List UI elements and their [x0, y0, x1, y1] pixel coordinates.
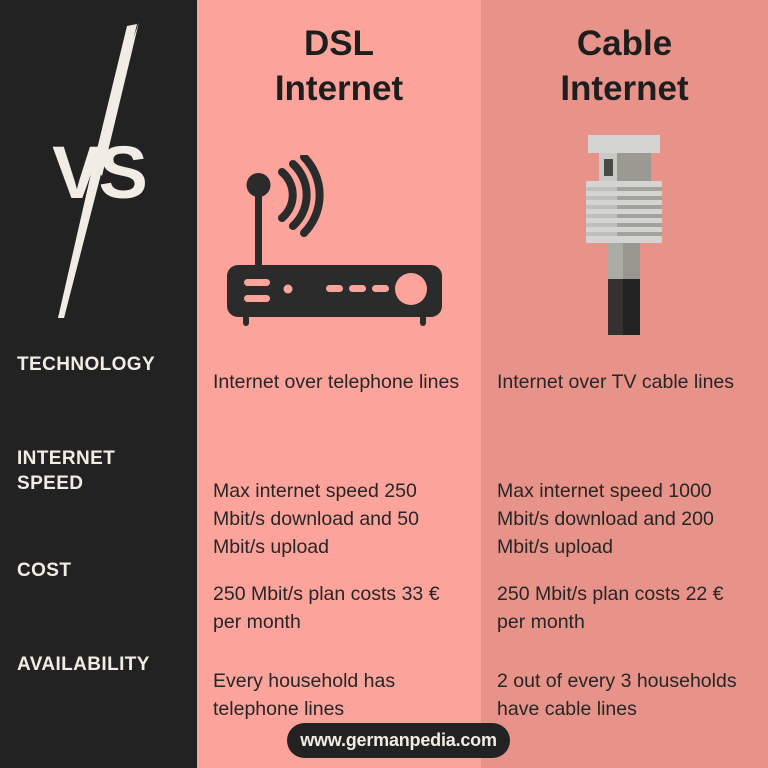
cell-cable-availability: 2 out of every 3 households have cable l…	[497, 667, 755, 723]
website-banner[interactable]: www.germanpedia.com	[287, 723, 510, 758]
row-label-internet-speed-line1: INTERNET	[17, 446, 195, 471]
cell-dsl-availability: Every household has telephone lines	[213, 667, 463, 723]
wifi-router-icon	[222, 155, 447, 335]
cable-header-line1: Cable	[481, 22, 768, 67]
row-label-technology: TECHNOLOGY	[17, 352, 195, 377]
row-label-internet-speed-line2: SPEED	[17, 471, 195, 496]
coax-connector-icon	[578, 135, 670, 335]
dsl-header-line2: Internet	[197, 67, 481, 112]
cell-cable-speed: Max internet speed 1000 Mbit/s download …	[497, 477, 755, 561]
row-label-cost: COST	[17, 558, 195, 583]
row-label-availability: AVAILABILITY	[17, 652, 195, 677]
cell-dsl-technology: Internet over telephone lines	[213, 368, 463, 396]
dsl-column-header: DSL Internet	[197, 22, 481, 112]
vs-text-label: VS	[0, 136, 197, 210]
vs-logo: VS	[0, 0, 197, 340]
cell-cable-technology: Internet over TV cable lines	[497, 368, 755, 396]
cable-header-line2: Internet	[481, 67, 768, 112]
infographic-root: VS DSL Internet Cable Internet	[0, 0, 768, 768]
cell-dsl-cost: 250 Mbit/s plan costs 33 € per month	[213, 580, 463, 636]
dsl-header-line1: DSL	[197, 22, 481, 67]
cell-dsl-speed: Max internet speed 250 Mbit/s download a…	[213, 477, 463, 561]
website-url-text: www.germanpedia.com	[300, 730, 497, 751]
cell-cable-cost: 250 Mbit/s plan costs 22 € per month	[497, 580, 755, 636]
row-label-internet-speed: INTERNET SPEED	[17, 446, 195, 496]
cable-column-header: Cable Internet	[481, 22, 768, 112]
